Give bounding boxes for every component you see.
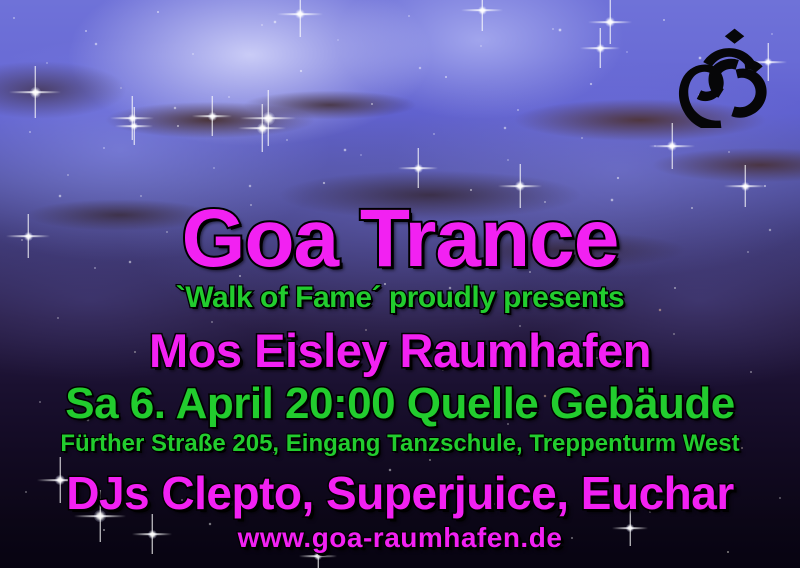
date-time-venue: Sa 6. April 20:00 Quelle Gebäude [0,382,800,426]
dj-lineup: DJs Clepto, Superjuice, Euchar [0,470,800,516]
address-line: Fürther Straße 205, Eingang Tanzschule, … [0,432,800,456]
flyer-text-block: Goa Trance `Walk of Fame´ proudly presen… [0,0,800,568]
page-title: Goa Trance [0,198,800,280]
venue-name: Mos Eisley Raumhafen [0,327,800,374]
subtitle-presents: `Walk of Fame´ proudly presents [0,283,800,313]
website-url: www.goa-raumhafen.de [0,524,800,552]
goa-trance-flyer: Goa Trance `Walk of Fame´ proudly presen… [0,0,800,568]
